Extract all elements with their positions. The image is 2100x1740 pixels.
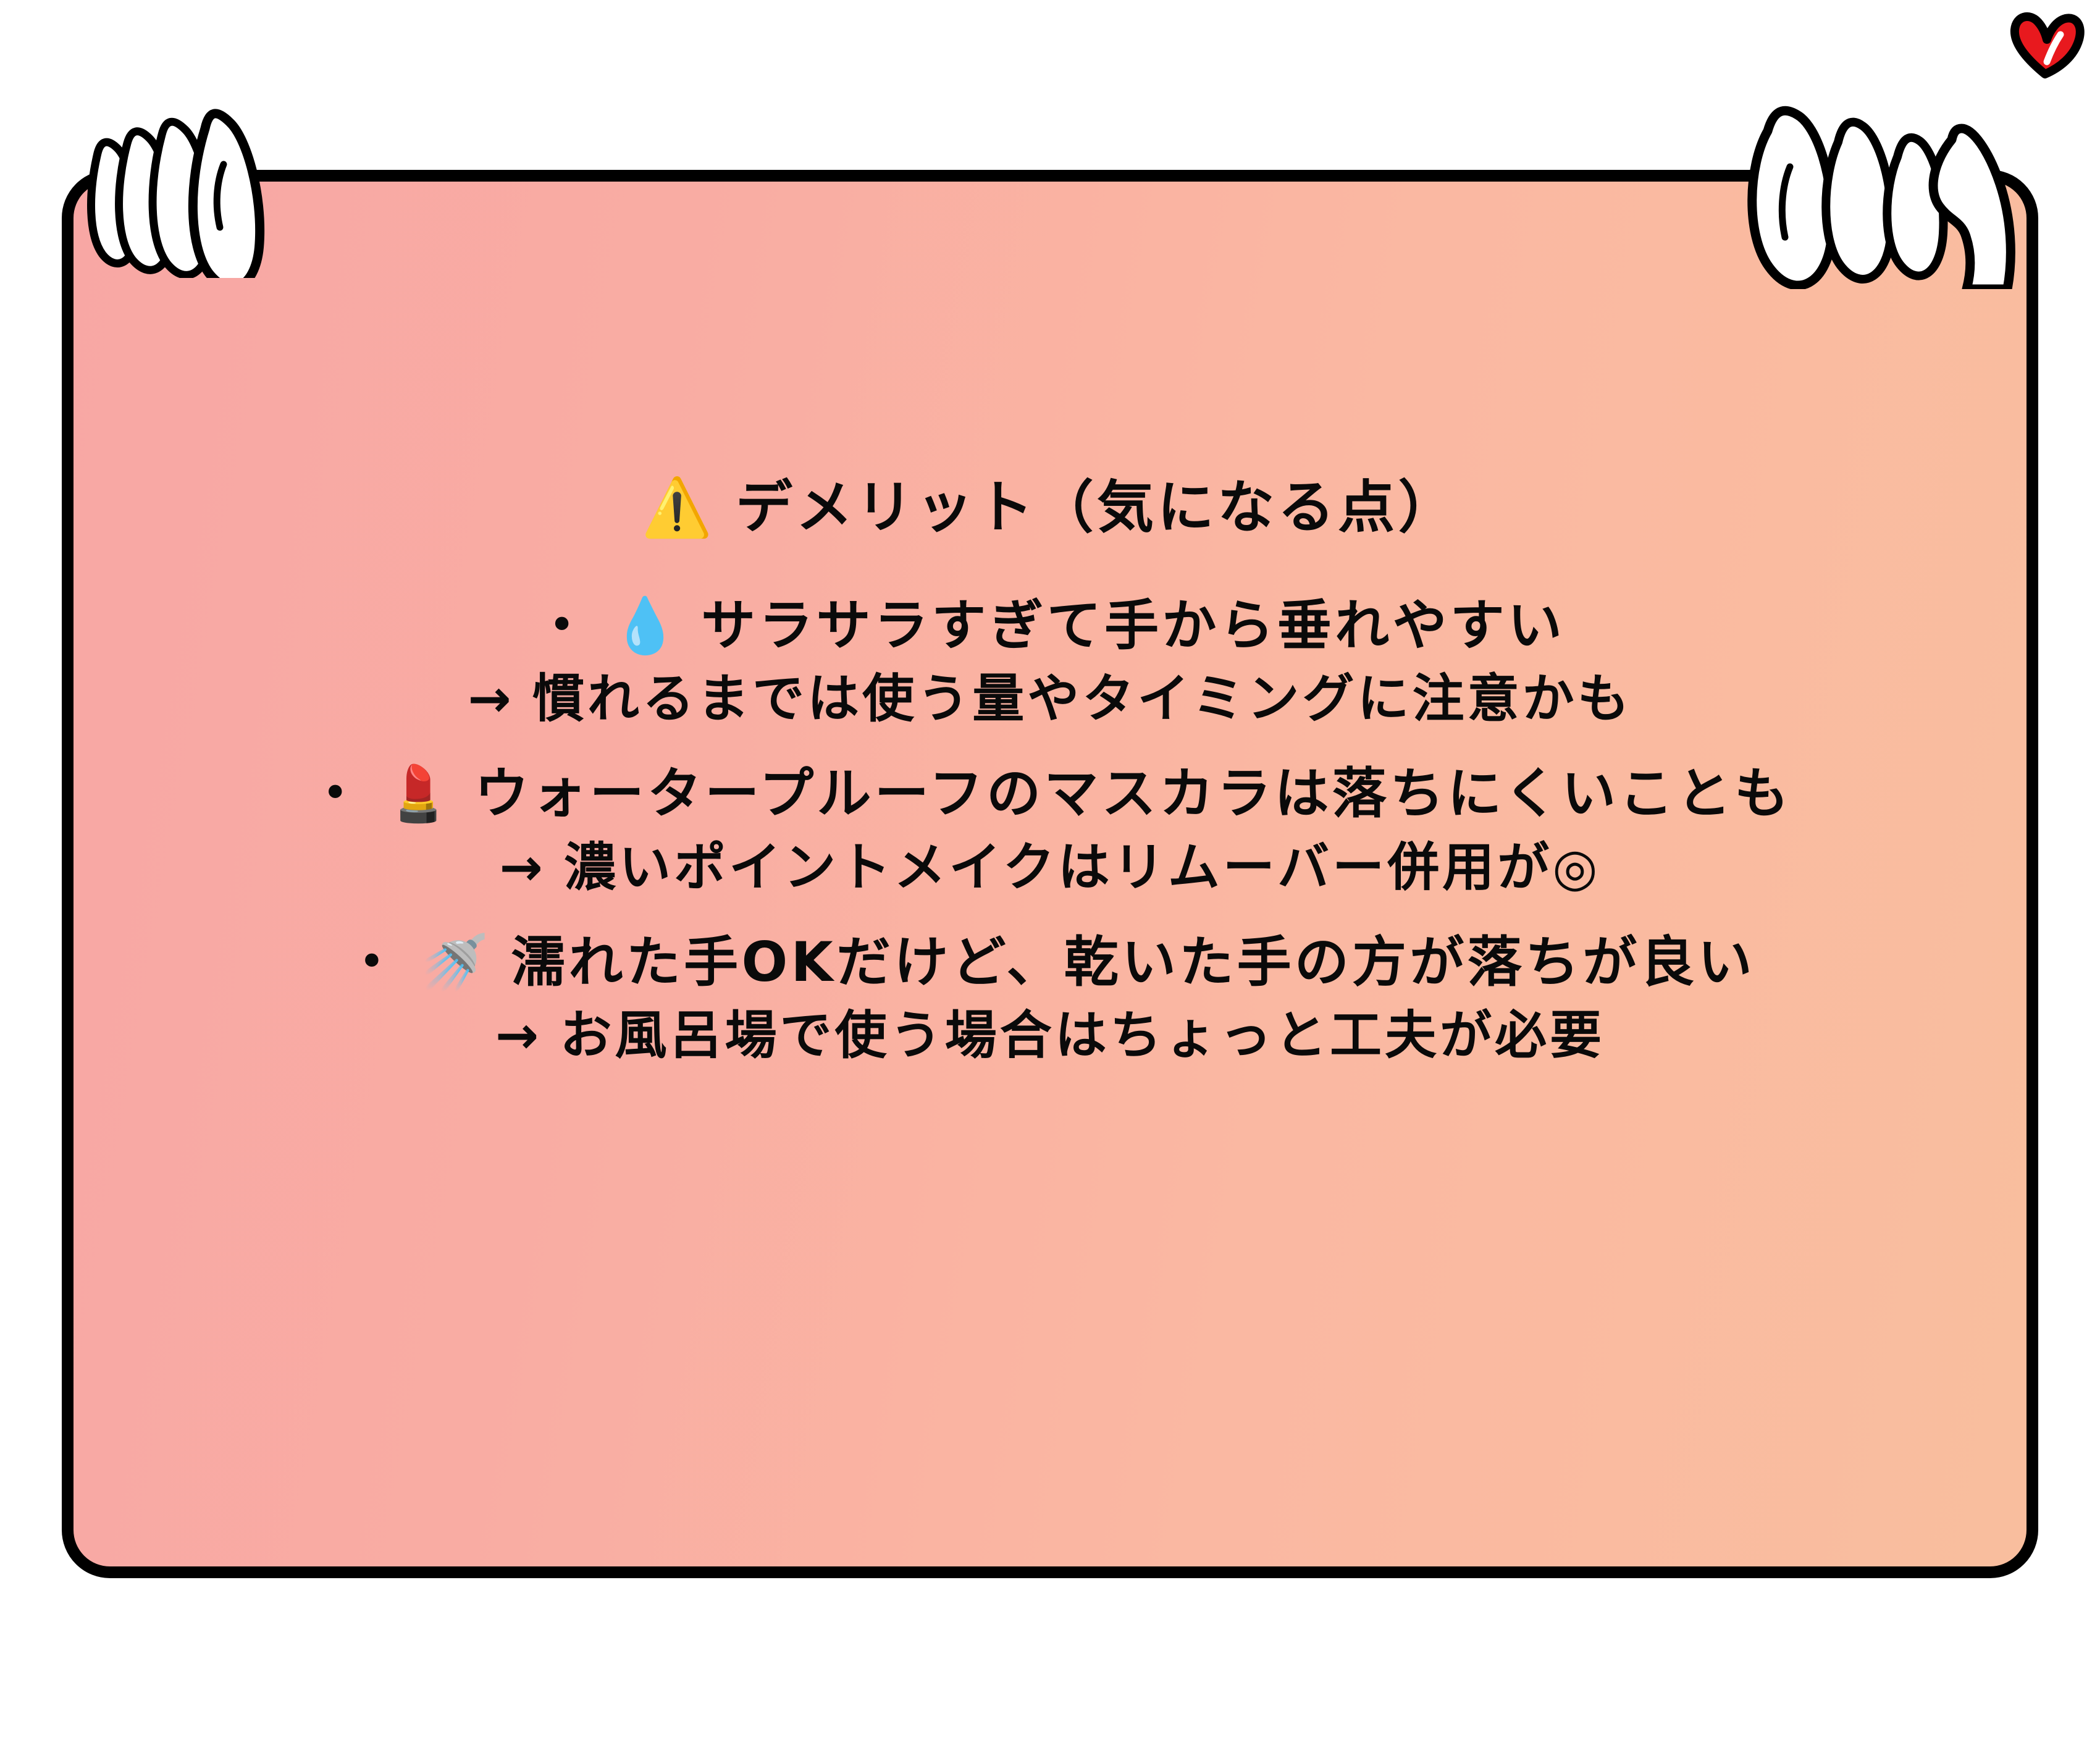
- bullet-item-1-note-text: 慣れるまでは使う量やタイミングに注意かも: [532, 668, 1632, 729]
- bullet-marker: ・: [308, 762, 363, 825]
- bullet-item-2-note-text: 濃いポイントメイクはリムーバー併用が◎: [564, 837, 1601, 897]
- bullet-item-3-text: 濡れた手OKだけど、乾いた手の方が落ちが良い: [511, 930, 1755, 994]
- arrow-right-icon: →: [499, 837, 542, 897]
- bullet-item-3: ・ 🚿 濡れた手OKだけど、乾いた手の方が落ちが良い: [73, 934, 2026, 991]
- bullet-item-3-note: → お風呂場で使う場合はちょっと工夫が必要: [73, 1008, 2026, 1062]
- heart-doodle: [2006, 7, 2086, 79]
- arrow-right-icon: →: [495, 1005, 539, 1065]
- droplet-icon: 💧: [611, 594, 679, 657]
- bullet-marker: ・: [535, 594, 589, 657]
- card-title: ⚠️ デメリット（気になる点）: [73, 478, 2026, 538]
- poster-canvas: ⚠️ デメリット（気になる点） ・ 💧 サラサラすぎて手から垂れやすい → 慣れ…: [0, 0, 2100, 1740]
- bullet-item-2: ・ 💄 ウォータープルーフのマスカラは落ちにくいことも: [73, 765, 2026, 822]
- bullet-item-2-text: ウォータープルーフのマスカラは落ちにくいことも: [474, 762, 1792, 825]
- bullet-item-1-text: サラサラすぎて手から垂れやすい: [701, 594, 1565, 657]
- bullet-marker: ・: [345, 930, 399, 994]
- info-card: ⚠️ デメリット（気になる点） ・ 💧 サラサラすぎて手から垂れやすい → 慣れ…: [62, 170, 2038, 1578]
- bullet-item-3-note-text: お風呂場で使う場合はちょっと工夫が必要: [560, 1005, 1605, 1065]
- card-title-text: デメリット（気になる点）: [736, 474, 1458, 540]
- bullet-item-2-note: → 濃いポイントメイクはリムーバー併用が◎: [73, 840, 2026, 894]
- card-content: ⚠️ デメリット（気になる点） ・ 💧 サラサラすぎて手から垂れやすい → 慣れ…: [73, 182, 2026, 1062]
- lipstick-icon: 💄: [385, 762, 453, 825]
- arrow-right-icon: →: [468, 668, 511, 729]
- bullet-item-1-note: → 慣れるまでは使う量やタイミングに注意かも: [73, 671, 2026, 726]
- shower-icon: 🚿: [421, 930, 489, 994]
- bullet-item-1: ・ 💧 サラサラすぎて手から垂れやすい: [73, 597, 2026, 654]
- warning-icon: ⚠️: [642, 474, 713, 540]
